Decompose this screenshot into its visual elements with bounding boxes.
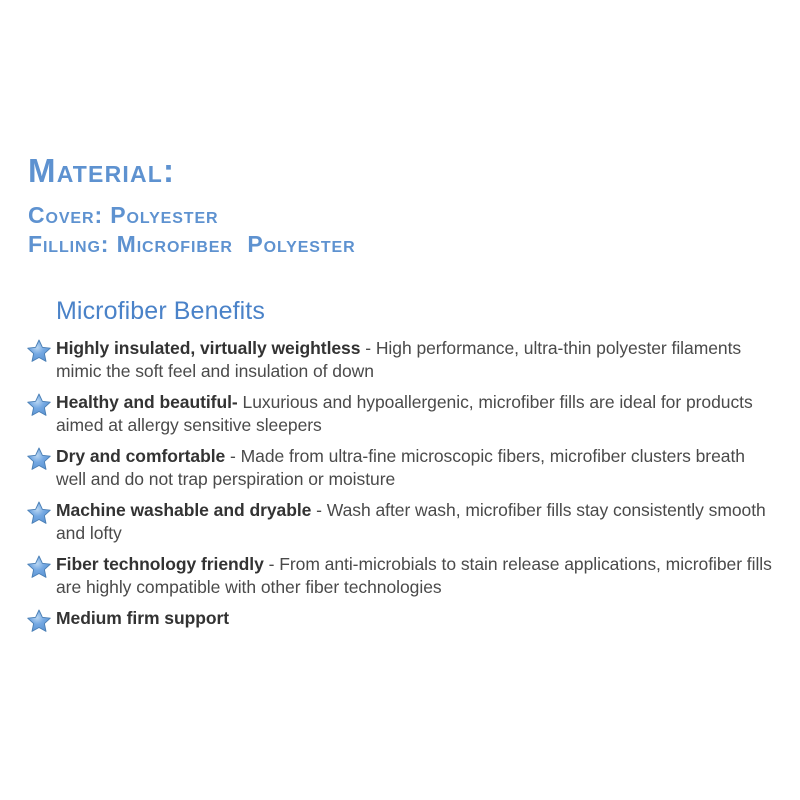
list-item: Highly insulated, virtually weightless -… xyxy=(26,337,778,383)
material-title: Material: xyxy=(28,152,356,190)
material-cover-line: Cover: Polyester xyxy=(28,201,356,230)
list-item: Medium firm support xyxy=(26,607,778,630)
star-icon xyxy=(26,338,52,364)
star-icon xyxy=(26,446,52,472)
list-item: Dry and comfortable - Made from ultra-fi… xyxy=(26,445,778,491)
benefits-list: Highly insulated, virtually weightless -… xyxy=(26,337,778,630)
benefit-lead: Highly insulated, virtually weightless xyxy=(56,338,360,358)
material-block: Material: Cover: Polyester Filling: Micr… xyxy=(28,152,356,259)
star-icon xyxy=(26,392,52,418)
star-icon xyxy=(26,554,52,580)
star-icon xyxy=(26,500,52,526)
material-filling-line: Filling: Microfiber Polyester xyxy=(28,230,356,259)
list-item: Fiber technology friendly - From anti-mi… xyxy=(26,553,778,599)
benefit-lead: Machine washable and dryable xyxy=(56,500,311,520)
product-description-page: Material: Cover: Polyester Filling: Micr… xyxy=(0,0,800,800)
benefit-lead: Fiber technology friendly xyxy=(56,554,264,574)
benefits-section: Microfiber Benefits xyxy=(26,296,778,630)
list-item: Healthy and beautiful- Luxurious and hyp… xyxy=(26,391,778,437)
list-item: Machine washable and dryable - Wash afte… xyxy=(26,499,778,545)
benefits-heading: Microfiber Benefits xyxy=(56,296,778,326)
benefit-lead: Healthy and beautiful- xyxy=(56,392,238,412)
star-icon xyxy=(26,608,52,634)
benefit-lead: Dry and comfortable xyxy=(56,446,225,466)
benefit-lead: Medium firm support xyxy=(56,608,229,628)
